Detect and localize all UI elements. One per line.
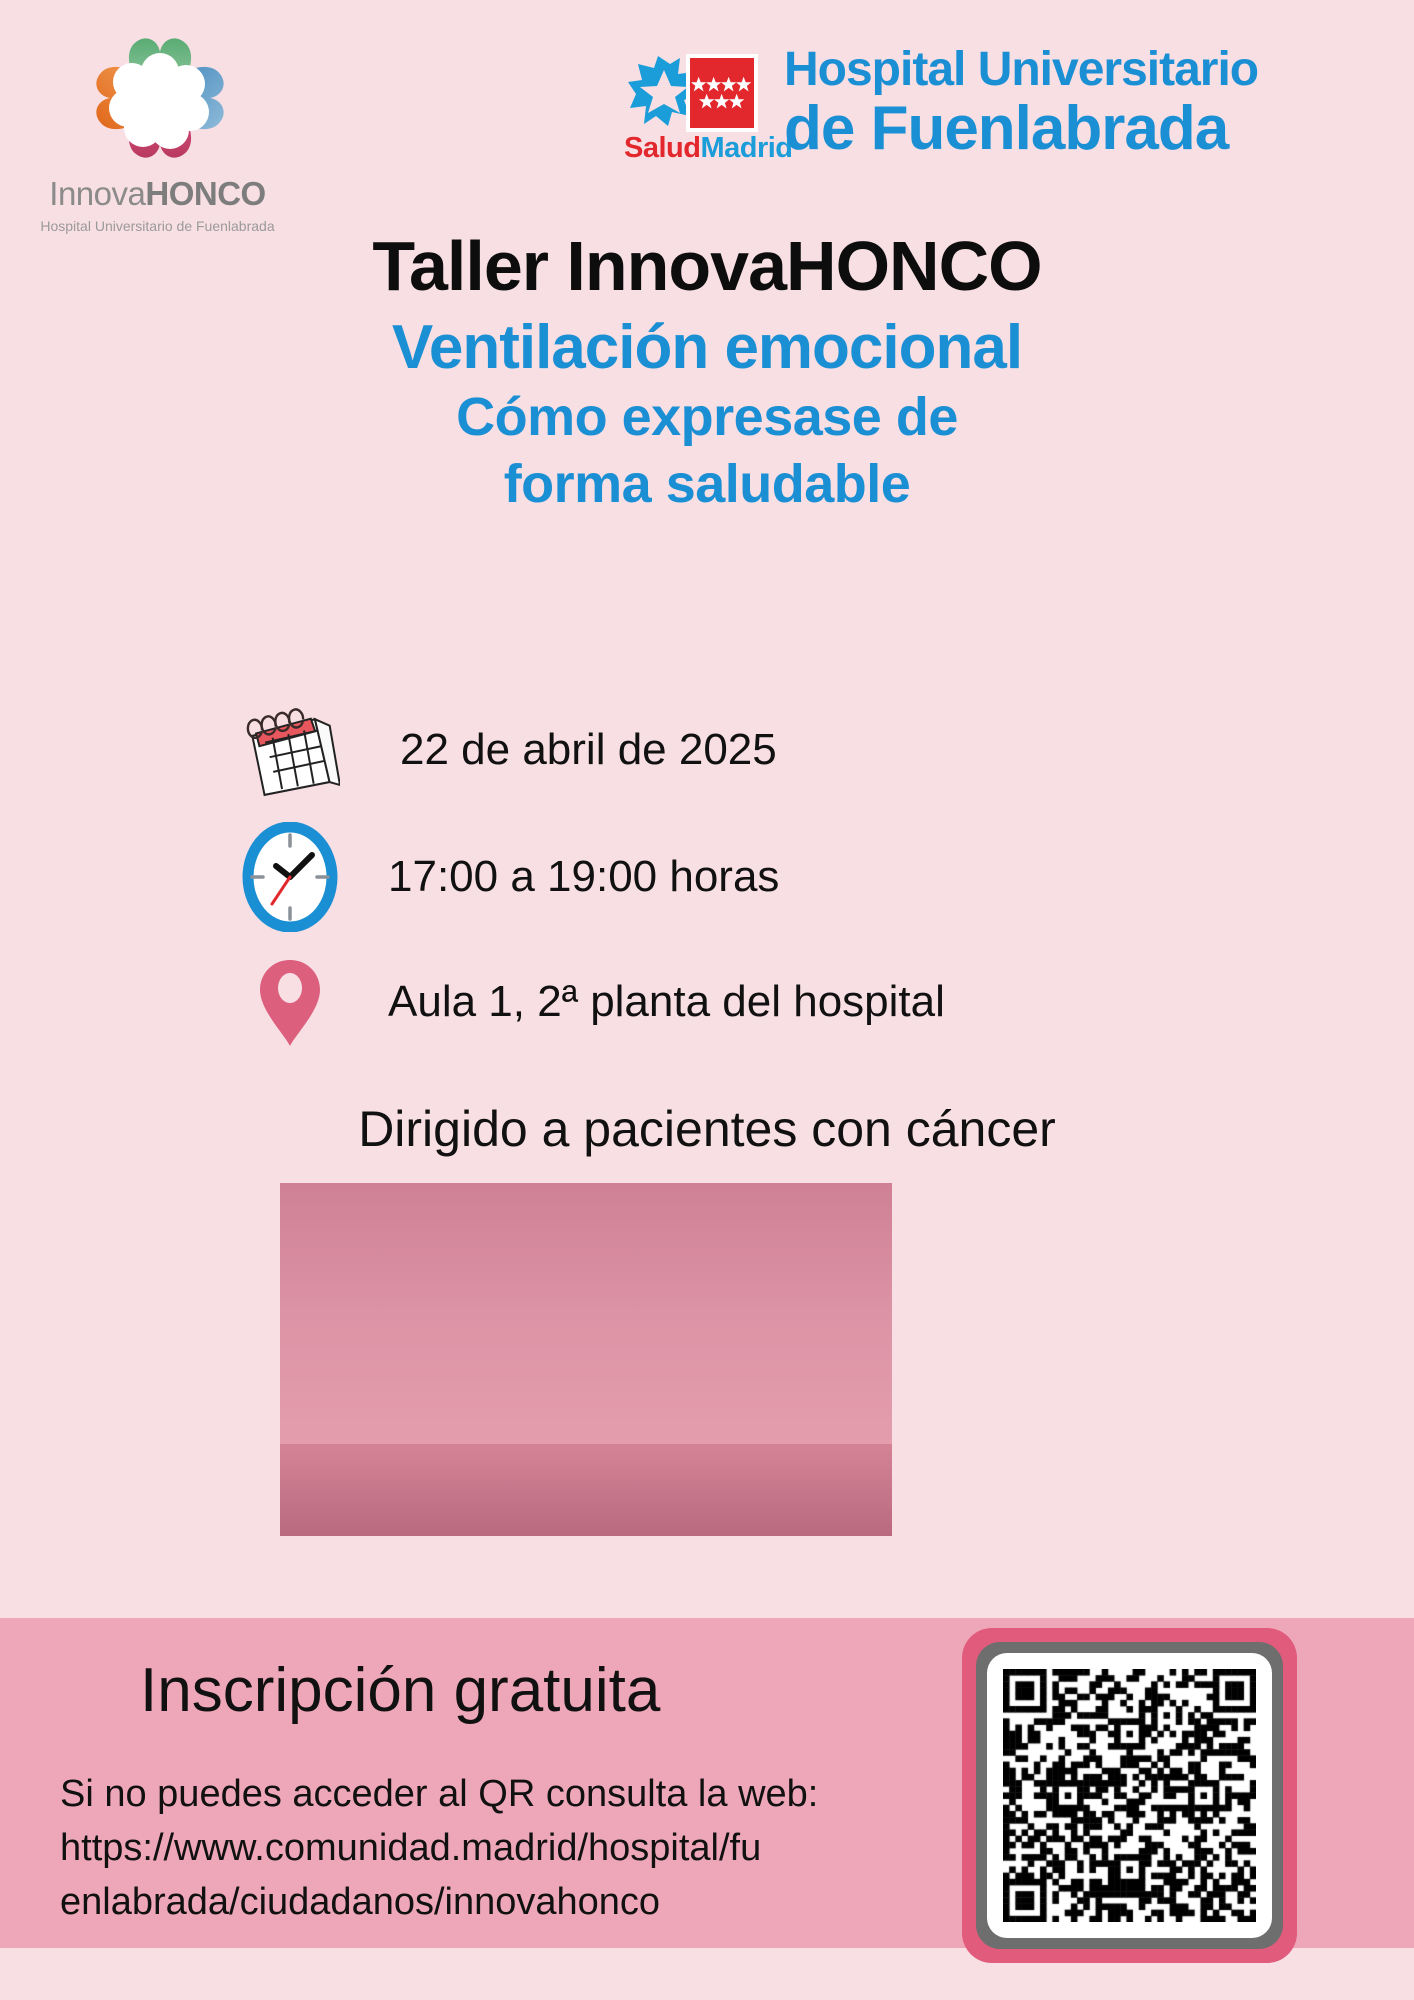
detail-row-location: Aula 1, 2ª planta del hospital [0, 954, 1414, 1050]
flower-icon [80, 22, 240, 177]
event-details: 22 de abril de 2025 17:00 a 19:00 horas [0, 700, 1414, 1072]
qr-code-frame [962, 1628, 1297, 1963]
page-title: Taller InnovaHONCO [0, 230, 1414, 304]
qr-code[interactable] [1003, 1669, 1256, 1922]
location-pin-icon [230, 954, 350, 1050]
saludmadrid-wordmark: SaludMadrid [624, 132, 793, 165]
honco-bold: HONCO [145, 175, 265, 212]
detail-date-text: 22 de abril de 2025 [400, 725, 777, 775]
subtitle-secondary-line1: Cómo expresase de [0, 386, 1414, 450]
subtitle-primary: Ventilación emocional [0, 314, 1414, 382]
hospital-name-line2: de Fuenlabrada [784, 98, 1258, 160]
innovahonco-wordmark: InnovaHONCO [30, 175, 285, 213]
clock-icon [230, 822, 350, 932]
calendar-icon [230, 700, 350, 800]
title-block: Taller InnovaHONCO Ventilación emocional… [0, 230, 1414, 517]
innova-light: Innova [49, 175, 145, 212]
registration-url-line2[interactable]: enlabrada/ciudadanos/innovahonco [60, 1876, 940, 1930]
madrid-word: Madrid [700, 132, 792, 164]
saludmadrid-mark: SaludMadrid [624, 52, 774, 167]
subtitle-secondary-line2: forma saludable [0, 453, 1414, 517]
poster-header: InnovaHONCO Hospital Universitario de Fu… [0, 0, 1414, 230]
salud-word: Salud [624, 132, 700, 164]
registration-url-line1[interactable]: https://www.comunidad.madrid/hospital/fu [60, 1822, 940, 1876]
hospital-name: Hospital Universitario de Fuenlabrada [784, 46, 1258, 160]
hospital-logo: SaludMadrid Hospital Universitario de Fu… [624, 52, 1394, 177]
registration-web-line1: Si no puedes acceder al QR consulta la w… [60, 1768, 940, 1822]
hospital-name-line1: Hospital Universitario [784, 46, 1258, 94]
registration-heading: Inscripción gratuita [140, 1655, 660, 1726]
detail-row-time: 17:00 a 19:00 horas [0, 822, 1414, 932]
qr-code-white-area [987, 1653, 1272, 1938]
poster-root: InnovaHONCO Hospital Universitario de Fu… [0, 0, 1414, 2000]
innovahonco-logo: InnovaHONCO Hospital Universitario de Fu… [30, 22, 285, 227]
audience-text: Dirigido a pacientes con cáncer [0, 1100, 1414, 1158]
detail-location-text: Aula 1, 2ª planta del hospital [388, 977, 945, 1027]
madrid-flag-icon [686, 54, 758, 132]
detail-row-date: 22 de abril de 2025 [0, 700, 1414, 800]
registration-web-info: Si no puedes acceder al QR consulta la w… [60, 1768, 940, 1930]
group-photo [280, 1183, 892, 1536]
detail-time-text: 17:00 a 19:00 horas [388, 852, 779, 902]
qr-code-inner-frame [976, 1642, 1283, 1949]
